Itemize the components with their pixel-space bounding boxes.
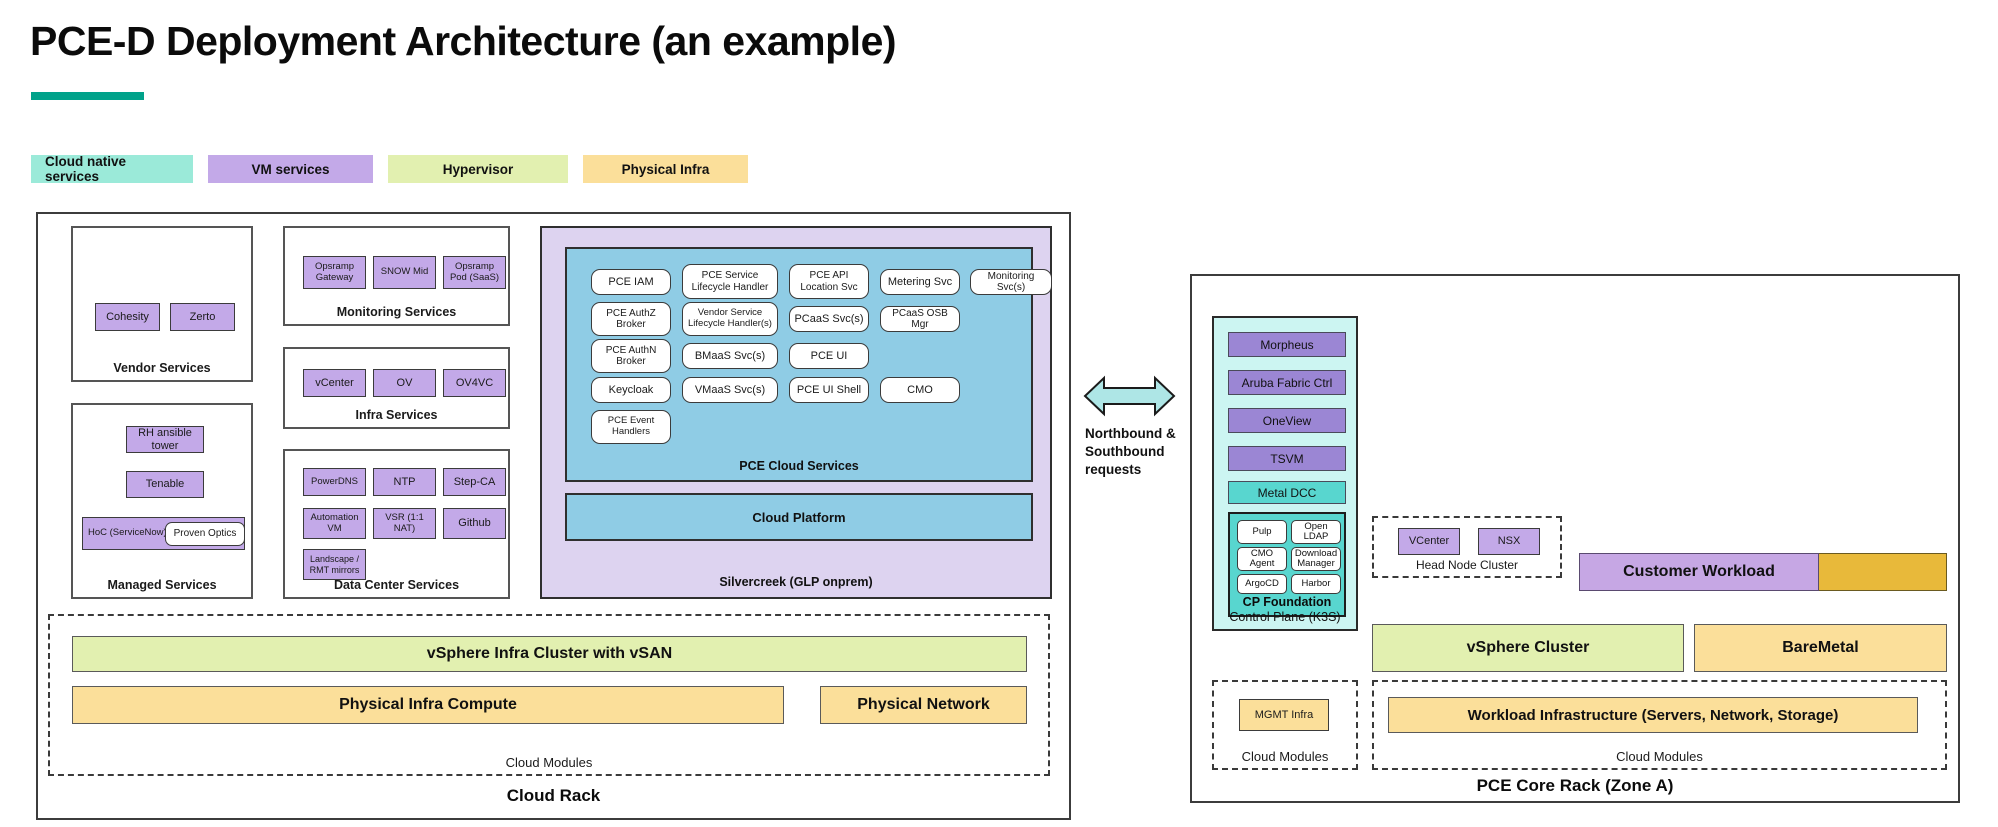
cp-bar-aruba-fabric-ctrl: Aruba Fabric Ctrl — [1228, 370, 1346, 395]
legend-label: Physical Infra — [622, 162, 710, 177]
data-center-services-label: Data Center Services — [285, 578, 508, 592]
legend-item-vm-services: VM services — [208, 155, 373, 183]
legend-item-cloud-native: Cloud native services — [31, 155, 193, 183]
pce-cloud-services-panel: PCE IAM PCE Service Lifecycle Handler PC… — [565, 247, 1033, 482]
chip-opsramp-gateway: Opsramp Gateway — [303, 256, 366, 289]
cpchip-pulp: Pulp — [1237, 520, 1287, 544]
managed-services-panel: RH ansible tower Tenable HoC (ServiceNow… — [71, 403, 253, 599]
cp-bar-metal-dcc: Metal DCC — [1228, 481, 1346, 504]
chip-zerto: Zerto — [170, 303, 235, 331]
workload-infrastructure-bar: Workload Infrastructure (Servers, Networ… — [1388, 697, 1918, 733]
silvercreek-label: Silvercreek (GLP onprem) — [542, 575, 1050, 589]
cp-foundation-panel: Pulp Open LDAP CMO Agent Download Manage… — [1228, 512, 1346, 617]
legend-item-physical-infra: Physical Infra — [583, 155, 748, 183]
chip-rh-ansible-tower: RH ansible tower — [126, 426, 204, 453]
infra-services-label: Infra Services — [285, 408, 508, 422]
baremetal-bar: BareMetal — [1694, 624, 1947, 672]
chip-landscape-rmt-mirrors: Landscape / RMT mirrors — [303, 549, 366, 580]
chip-vsr-nat: VSR (1:1 NAT) — [373, 508, 436, 539]
cloud-modules-label: Cloud Modules — [50, 755, 1048, 770]
chip-head-vcenter: VCenter — [1398, 528, 1460, 555]
legend-label: Hypervisor — [443, 162, 514, 177]
chip-pce-authn-broker: PCE AuthN Broker — [591, 339, 671, 373]
chip-pcaas-osb-mgr: PCaaS OSB Mgr — [880, 306, 960, 332]
chip-bmaas-svcs: BMaaS Svc(s) — [682, 343, 778, 369]
monitoring-services-panel: Opsramp Gateway SNOW Mid Opsramp Pod (Sa… — [283, 226, 510, 326]
page-title: PCE-D Deployment Architecture (an exampl… — [30, 18, 896, 65]
cp-bar-morpheus: Morpheus — [1228, 332, 1346, 357]
mgmt-cloud-modules-label: Cloud Modules — [1214, 749, 1356, 764]
mgmt-cloud-modules-group: MGMT Infra Cloud Modules — [1212, 680, 1358, 770]
vsphere-cluster-bar: vSphere Cluster — [1372, 624, 1684, 672]
chip-pce-service-lifecycle-handler: PCE Service Lifecycle Handler — [682, 264, 778, 299]
pce-cloud-services-label: PCE Cloud Services — [567, 459, 1031, 473]
chip-head-nsx: NSX — [1478, 528, 1540, 555]
chip-pce-iam: PCE IAM — [591, 269, 671, 295]
infra-services-panel: vCenter OV OV4VC Infra Services — [283, 347, 510, 429]
chip-mgmt-infra: MGMT Infra — [1239, 699, 1329, 731]
chip-pce-ui-shell: PCE UI Shell — [789, 377, 869, 403]
chip-pce-api-location-svc: PCE API Location Svc — [789, 264, 869, 299]
legend-label: VM services — [251, 162, 329, 177]
cp-bar-oneview: OneView — [1228, 408, 1346, 433]
pce-core-rack: Morpheus Aruba Fabric Ctrl OneView TSVM … — [1190, 274, 1960, 803]
control-plane-panel: Morpheus Aruba Fabric Ctrl OneView TSVM … — [1212, 316, 1358, 631]
monitoring-services-label: Monitoring Services — [285, 305, 508, 319]
chip-monitoring-svcs: Monitoring Svc(s) — [970, 269, 1052, 295]
cloud-platform-bar: Cloud Platform — [565, 493, 1033, 541]
legend: Cloud native services VM services Hyperv… — [31, 155, 748, 183]
chip-ntp: NTP — [373, 468, 436, 496]
data-center-services-panel: PowerDNS NTP Step-CA Automation VM VSR (… — [283, 449, 510, 599]
workload-cloud-modules-label: Cloud Modules — [1374, 749, 1945, 764]
chip-snow-mid: SNOW Mid — [373, 256, 436, 289]
vsphere-infra-cluster-bar: vSphere Infra Cluster with vSAN — [72, 636, 1027, 672]
chip-automation-vm: Automation VM — [303, 508, 366, 539]
chip-tenable: Tenable — [126, 471, 204, 498]
cpchip-open-ldap: Open LDAP — [1291, 520, 1341, 544]
chip-vcenter: vCenter — [303, 369, 366, 397]
physical-network-bar: Physical Network — [820, 686, 1027, 724]
chip-powerdns: PowerDNS — [303, 468, 366, 496]
chip-pcaas-svcs: PCaaS Svc(s) — [789, 306, 869, 332]
managed-services-label: Managed Services — [73, 578, 251, 592]
chip-metering-svc: Metering Svc — [880, 269, 960, 295]
cpchip-argocd: ArgoCD — [1237, 574, 1287, 594]
northbound-southbound-arrow-icon — [1082, 372, 1177, 420]
chip-step-ca: Step-CA — [443, 468, 506, 496]
chip-vendor-service-lifecycle-handlers: Vendor Service Lifecycle Handler(s) — [682, 302, 778, 336]
chip-cohesity: Cohesity — [95, 303, 160, 331]
chip-pce-ui: PCE UI — [789, 343, 869, 369]
cpchip-download-manager: Download Manager — [1291, 547, 1341, 571]
chip-proven-optics: Proven Optics — [165, 522, 245, 546]
pce-core-rack-title: PCE Core Rack (Zone A) — [1192, 776, 1958, 796]
head-node-cluster-group: VCenter NSX Head Node Cluster — [1372, 516, 1562, 578]
silvercreek-panel: PCE IAM PCE Service Lifecycle Handler PC… — [540, 226, 1052, 599]
chip-keycloak: Keycloak — [591, 377, 671, 403]
title-underline-rule — [31, 92, 144, 100]
legend-item-hypervisor: Hypervisor — [388, 155, 568, 183]
cp-bar-tsvm: TSVM — [1228, 446, 1346, 471]
chip-cmo: CMO — [880, 377, 960, 403]
head-node-cluster-label: Head Node Cluster — [1374, 558, 1560, 572]
control-plane-label: Control Plane (K3S) — [1214, 610, 1356, 624]
chip-opsramp-pod-saas: Opsramp Pod (SaaS) — [443, 256, 506, 289]
vendor-services-label: Vendor Services — [73, 361, 251, 375]
cloud-rack: Cohesity Zerto Vendor Services RH ansibl… — [36, 212, 1071, 820]
cpchip-cmo-agent: CMO Agent — [1237, 547, 1287, 571]
chip-vmaas-svcs: VMaaS Svc(s) — [682, 377, 778, 403]
chip-ov4vc: OV4VC — [443, 369, 506, 397]
legend-label: Cloud native services — [45, 154, 179, 184]
cp-foundation-label: CP Foundation — [1230, 595, 1344, 609]
cloud-modules-group: vSphere Infra Cluster with vSAN Physical… — [48, 614, 1050, 776]
chip-pce-authz-broker: PCE AuthZ Broker — [591, 302, 671, 336]
customer-workload-bar: Customer Workload — [1579, 553, 1819, 591]
workload-cloud-modules-group: Workload Infrastructure (Servers, Networ… — [1372, 680, 1947, 770]
chip-github: Github — [443, 508, 506, 539]
physical-infra-compute-bar: Physical Infra Compute — [72, 686, 784, 724]
vendor-services-panel: Cohesity Zerto Vendor Services — [71, 226, 253, 382]
cloud-rack-title: Cloud Rack — [38, 786, 1069, 806]
chip-ov: OV — [373, 369, 436, 397]
chip-pce-event-handlers: PCE Event Handlers — [591, 410, 671, 444]
cpchip-harbor: Harbor — [1291, 574, 1341, 594]
